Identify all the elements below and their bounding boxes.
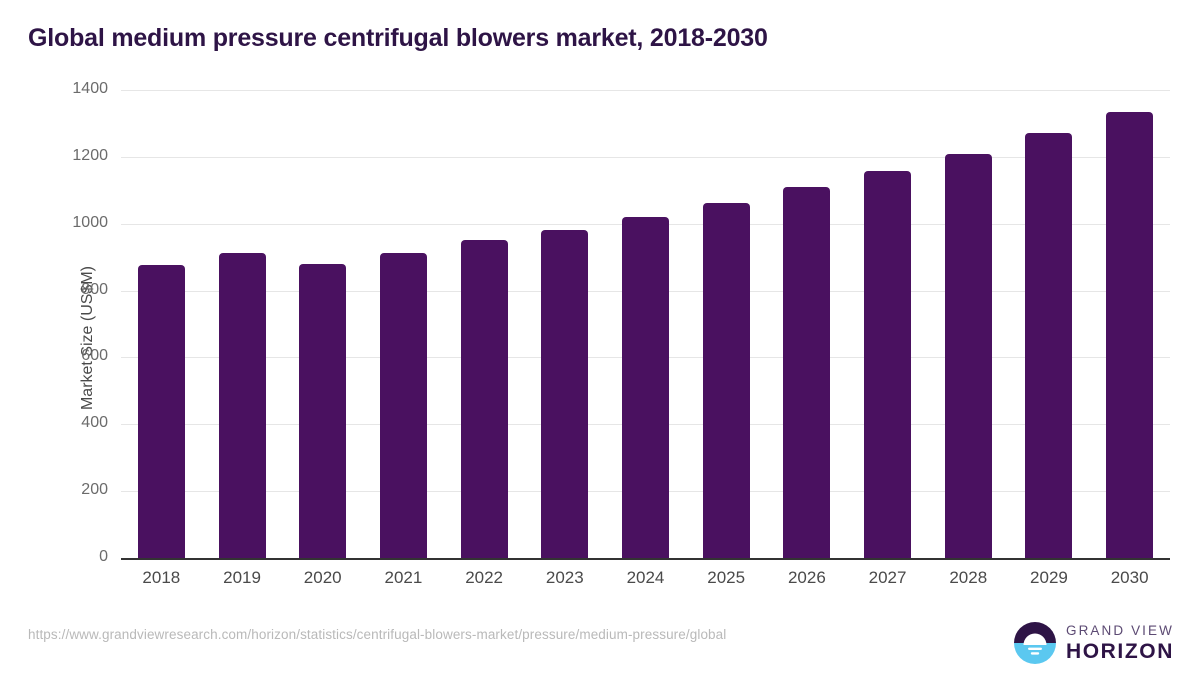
chart-canvas: Market Size (US$M) 020040060080010001200… (0, 0, 1200, 675)
y-tick-label: 0 (0, 548, 108, 566)
x-tick-label: 2024 (605, 568, 686, 588)
x-tick-label: 2027 (847, 568, 928, 588)
bar[interactable] (622, 217, 669, 558)
x-tick-label: 2026 (767, 568, 848, 588)
bar[interactable] (1025, 133, 1072, 558)
y-tick-label: 400 (0, 414, 108, 432)
x-tick-label: 2019 (202, 568, 283, 588)
bar[interactable] (380, 253, 427, 558)
source-url[interactable]: https://www.grandviewresearch.com/horizo… (28, 627, 726, 642)
y-tick-label: 1200 (0, 147, 108, 165)
y-tick-label: 1400 (0, 80, 108, 98)
x-tick-label: 2020 (282, 568, 363, 588)
bar[interactable] (945, 154, 992, 558)
logo-wordmark: GRAND VIEW HORIZON (1066, 624, 1174, 662)
plot-area (121, 90, 1170, 558)
y-tick-label: 200 (0, 481, 108, 499)
bar[interactable] (541, 230, 588, 558)
gridline (121, 90, 1170, 91)
bar[interactable] (783, 187, 830, 558)
gridline (121, 157, 1170, 158)
x-tick-label: 2022 (444, 568, 525, 588)
axis-baseline (121, 558, 1170, 560)
bar[interactable] (1106, 112, 1153, 558)
chart-page: Global medium pressure centrifugal blowe… (0, 0, 1200, 675)
x-tick-label: 2018 (121, 568, 202, 588)
bar[interactable] (703, 203, 750, 558)
x-tick-label: 2030 (1089, 568, 1170, 588)
logo-line-1: GRAND VIEW (1066, 624, 1174, 638)
y-tick-label: 800 (0, 281, 108, 299)
logo-line-2: HORIZON (1066, 641, 1174, 662)
bar[interactable] (299, 264, 346, 558)
bar[interactable] (864, 171, 911, 558)
x-tick-label: 2025 (686, 568, 767, 588)
grand-view-horizon-logo-icon (1013, 621, 1057, 665)
brand-logo[interactable]: GRAND VIEW HORIZON (1013, 619, 1174, 667)
bar[interactable] (219, 253, 266, 558)
x-tick-label: 2023 (524, 568, 605, 588)
y-tick-label: 600 (0, 347, 108, 365)
bar[interactable] (461, 240, 508, 558)
x-tick-label: 2029 (1009, 568, 1090, 588)
x-tick-label: 2021 (363, 568, 444, 588)
y-tick-label: 1000 (0, 214, 108, 232)
x-tick-label: 2028 (928, 568, 1009, 588)
bar[interactable] (138, 265, 185, 558)
